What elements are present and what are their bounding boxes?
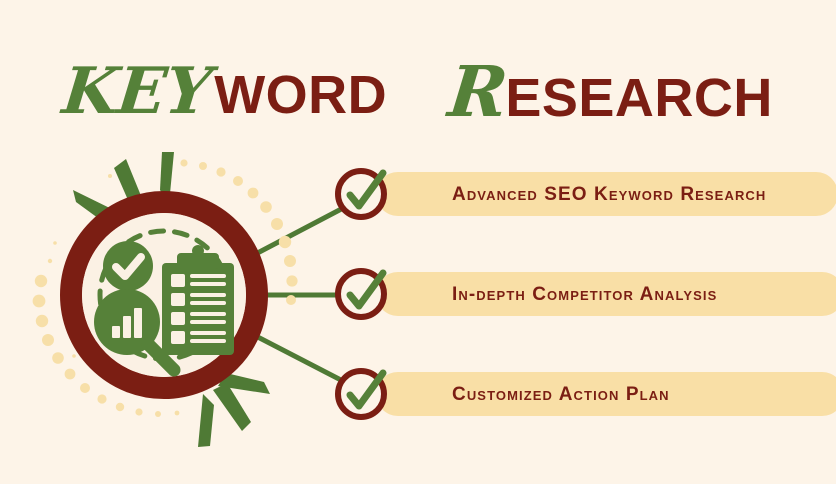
list-item-pill[interactable]: Advanced SEO Keyword Research [376, 172, 836, 216]
list-item-label: Customized Action Plan [452, 385, 670, 404]
list-item-label: Advanced SEO Keyword Research [452, 185, 766, 204]
list-item[interactable]: Advanced SEO Keyword Research [332, 163, 836, 225]
check-circle-icon [332, 165, 390, 223]
list-item[interactable]: In-depth Competitor Analysis [332, 263, 836, 325]
check-circle-icon [332, 265, 390, 323]
keyword-research-emblem [14, 150, 314, 450]
infographic-canvas: KEY WORD R ESEARCH [0, 0, 836, 484]
list-item-pill[interactable]: Customized Action Plan [376, 372, 836, 416]
check-circle-icon [332, 365, 390, 423]
list-item[interactable]: Customized Action Plan [332, 363, 836, 425]
list-item-pill[interactable]: In-depth Competitor Analysis [376, 272, 836, 316]
list-item-label: In-depth Competitor Analysis [452, 285, 717, 304]
check-badge-icon [103, 241, 153, 291]
